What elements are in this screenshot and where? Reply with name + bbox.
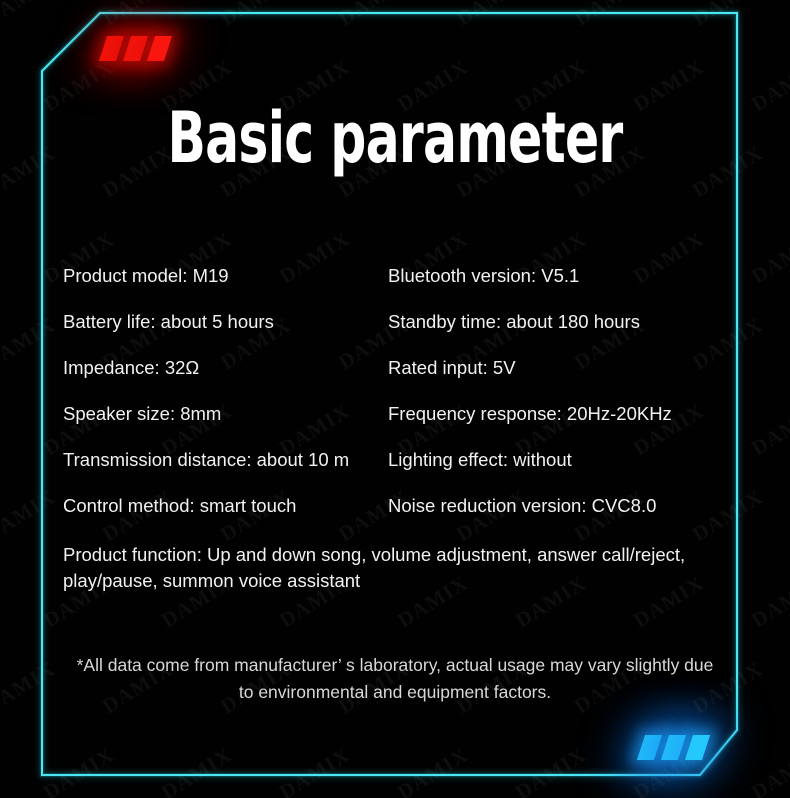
spec-item: Rated input: 5V — [388, 356, 723, 380]
watermark-text: DAMIX — [334, 0, 414, 31]
table-row: Control method: smart touch Noise reduct… — [63, 494, 723, 540]
watermark-text: DAMIX — [629, 742, 709, 798]
page-title: Basic parameter — [111, 99, 680, 177]
watermark-text: DAMIX — [452, 0, 532, 31]
table-row: Transmission distance: about 10 m Lighti… — [63, 448, 723, 494]
watermark-text: DAMIX — [0, 226, 1, 289]
watermark-text: DAMIX — [0, 398, 1, 461]
watermark-text: DAMIX — [570, 0, 650, 31]
accent-bar — [99, 36, 124, 61]
accent-bar — [685, 735, 710, 760]
watermark-text: DAMIX — [511, 742, 591, 798]
spec-item: Control method: smart touch — [63, 494, 388, 518]
watermark-text: DAMIX — [393, 742, 473, 798]
spec-item: Bluetooth version: V5.1 — [388, 264, 723, 288]
watermark-text: DAMIX — [747, 570, 790, 633]
watermark-text: DAMIX — [747, 54, 790, 117]
watermark-text: DAMIX — [0, 140, 60, 203]
watermark-text: DAMIX — [98, 0, 178, 31]
spec-item: Frequency response: 20Hz-20KHz — [388, 402, 723, 426]
accent-bar — [637, 735, 662, 760]
watermark-text: DAMIX — [688, 0, 768, 31]
watermark-text: DAMIX — [39, 54, 119, 117]
accent-bar — [123, 36, 148, 61]
watermark-text: DAMIX — [0, 312, 60, 375]
spec-item: Product model: M19 — [63, 264, 388, 288]
spec-item: Speaker size: 8mm — [63, 402, 388, 426]
spec-item: Impedance: 32Ω — [63, 356, 388, 380]
red-triple-bar-accent — [103, 36, 168, 61]
watermark-text: DAMIX — [0, 570, 1, 633]
watermark-text: DAMIX — [747, 398, 790, 461]
spec-card: DAMIXDAMIXDAMIXDAMIXDAMIXDAMIXDAMIXDAMIX… — [0, 0, 790, 798]
disclaimer-note: *All data come from manufacturer’ s labo… — [75, 652, 715, 706]
watermark-text: DAMIX — [0, 656, 60, 719]
spec-item: Noise reduction version: CVC8.0 — [388, 494, 723, 518]
watermark-text: DAMIX — [747, 226, 790, 289]
watermark-text: DAMIX — [0, 0, 60, 31]
table-row: Product model: M19 Bluetooth version: V5… — [63, 264, 723, 310]
watermark-text: DAMIX — [216, 0, 296, 31]
watermark-text: DAMIX — [275, 742, 355, 798]
watermark-text: DAMIX — [39, 742, 119, 798]
spec-item: Lighting effect: without — [388, 448, 723, 472]
table-row: Speaker size: 8mm Frequency response: 20… — [63, 402, 723, 448]
spec-table: Product model: M19 Bluetooth version: V5… — [63, 264, 723, 540]
spec-item: Transmission distance: about 10 m — [63, 448, 388, 472]
accent-bar — [147, 36, 172, 61]
product-function-text: Product function: Up and down song, volu… — [63, 542, 711, 594]
spec-item: Battery life: about 5 hours — [63, 310, 388, 334]
spec-item: Standby time: about 180 hours — [388, 310, 723, 334]
watermark-text: DAMIX — [0, 484, 60, 547]
watermark-text: DAMIX — [0, 54, 1, 117]
watermark-text: DAMIX — [747, 742, 790, 798]
watermark-text: DAMIX — [688, 140, 768, 203]
table-row: Impedance: 32Ω Rated input: 5V — [63, 356, 723, 402]
cyan-triple-bar-accent — [641, 735, 706, 760]
table-row: Battery life: about 5 hours Standby time… — [63, 310, 723, 356]
accent-bar — [661, 735, 686, 760]
watermark-text: DAMIX — [157, 742, 237, 798]
watermark-text: DAMIX — [0, 742, 1, 798]
